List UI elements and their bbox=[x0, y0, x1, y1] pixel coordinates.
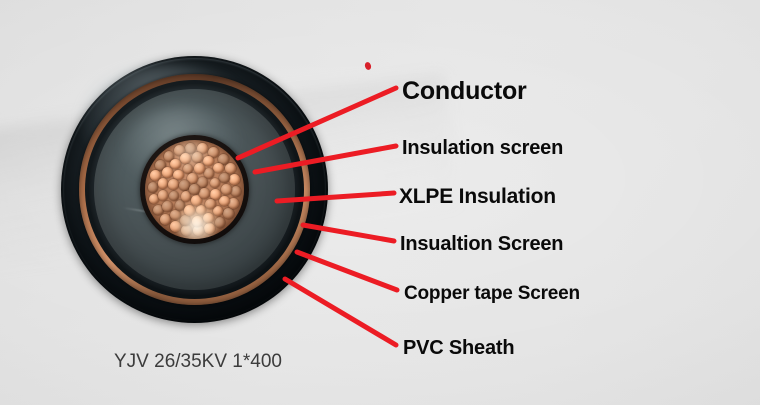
label-insulation-screen: Insulation screen bbox=[402, 138, 563, 158]
label-conductor: Conductor bbox=[402, 79, 527, 104]
conductor-strand bbox=[158, 178, 169, 189]
conductor-strand bbox=[231, 186, 242, 197]
conductor-strand bbox=[213, 163, 224, 174]
conductor-strand bbox=[210, 189, 221, 200]
label-pvc-sheath: PVC Sheath bbox=[403, 338, 514, 358]
conductor-strand bbox=[199, 188, 210, 199]
conductor-strand bbox=[148, 182, 159, 193]
conductor-strand bbox=[210, 178, 221, 189]
conductor-strand bbox=[180, 215, 191, 226]
cable-cross-section bbox=[61, 56, 328, 323]
conductor-strand bbox=[203, 213, 214, 224]
conductor-strand bbox=[180, 153, 191, 164]
conductor-strand bbox=[219, 196, 230, 207]
cable-spec-caption: YJV 26/35KV 1*400 bbox=[114, 351, 282, 373]
conductor-strand bbox=[189, 184, 200, 195]
conductor-strand bbox=[215, 217, 226, 228]
conductor-strand bbox=[181, 225, 192, 236]
conductor-strand bbox=[193, 225, 204, 236]
conductor-strand bbox=[204, 223, 215, 234]
label-insualtion-screen: Insualtion Screen bbox=[400, 234, 563, 254]
conductor-strand bbox=[168, 179, 179, 190]
conductor-strand bbox=[170, 221, 181, 232]
conductor-strand bbox=[158, 190, 169, 201]
conductor-strand bbox=[221, 184, 232, 195]
cable-diagram-image: Conductor Insulation screen XLPE Insulat… bbox=[0, 0, 760, 405]
conductor-strand bbox=[194, 163, 205, 174]
conductor-strand bbox=[228, 198, 239, 209]
conductor-strand bbox=[192, 152, 203, 163]
conductor-strand bbox=[229, 174, 240, 185]
conductor-strand bbox=[223, 208, 234, 219]
label-copper-tape-screen: Copper tape Screen bbox=[404, 284, 580, 303]
conductor-strand bbox=[162, 167, 173, 178]
label-xlpe-insulation: XLPE Insulation bbox=[399, 186, 556, 207]
conductor-strand bbox=[203, 156, 214, 167]
conductor-strand bbox=[170, 210, 181, 221]
conductor-strand bbox=[205, 199, 216, 210]
conductor-strand bbox=[219, 173, 230, 184]
conductor-strand bbox=[192, 216, 203, 227]
conductor-core bbox=[145, 140, 245, 240]
conductor-strand bbox=[184, 205, 195, 216]
